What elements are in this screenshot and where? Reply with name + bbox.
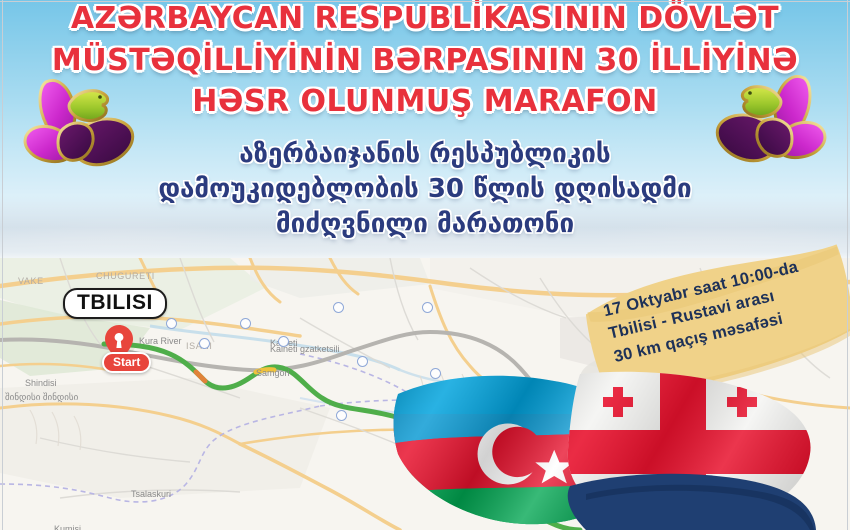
map-poi-dot <box>333 302 344 313</box>
map-label: Tsalaskuri <box>131 489 171 499</box>
orchid-emblem-icon <box>704 62 834 202</box>
marathon-poster: AZƏRBAYCAN RESPUBLİKASININ DÖVLƏT MÜSTƏQ… <box>0 0 850 530</box>
map-label: Shindisi <box>25 378 57 388</box>
map-label: შინდისი შინდისი <box>5 392 78 403</box>
title-az-line-1: AZƏRBAYCAN RESPUBLİKASININ DÖVLƏT <box>0 4 850 35</box>
map-label: Kumisi <box>54 524 81 530</box>
city-label-tbilisi: TBILISI <box>63 288 167 319</box>
map-poi-dot <box>336 410 347 421</box>
map-label: Samgori <box>256 368 290 378</box>
flags-graphic <box>390 368 850 530</box>
map-label: CHUGURETI <box>96 271 155 281</box>
map-label: VAKE <box>18 276 44 286</box>
map-poi-dot <box>278 336 289 347</box>
start-label: Start <box>102 352 151 373</box>
map-poi-dot <box>422 302 433 313</box>
map-poi-dot <box>166 318 177 329</box>
map-label: Kura River <box>139 336 182 346</box>
map-poi-dot <box>357 356 368 367</box>
map-poi-dot <box>240 318 251 329</box>
title-ka-line-3: მიძღვნილი მარათონი <box>0 210 850 238</box>
map-poi-dot <box>199 338 210 349</box>
orchid-emblem-icon <box>16 66 146 206</box>
